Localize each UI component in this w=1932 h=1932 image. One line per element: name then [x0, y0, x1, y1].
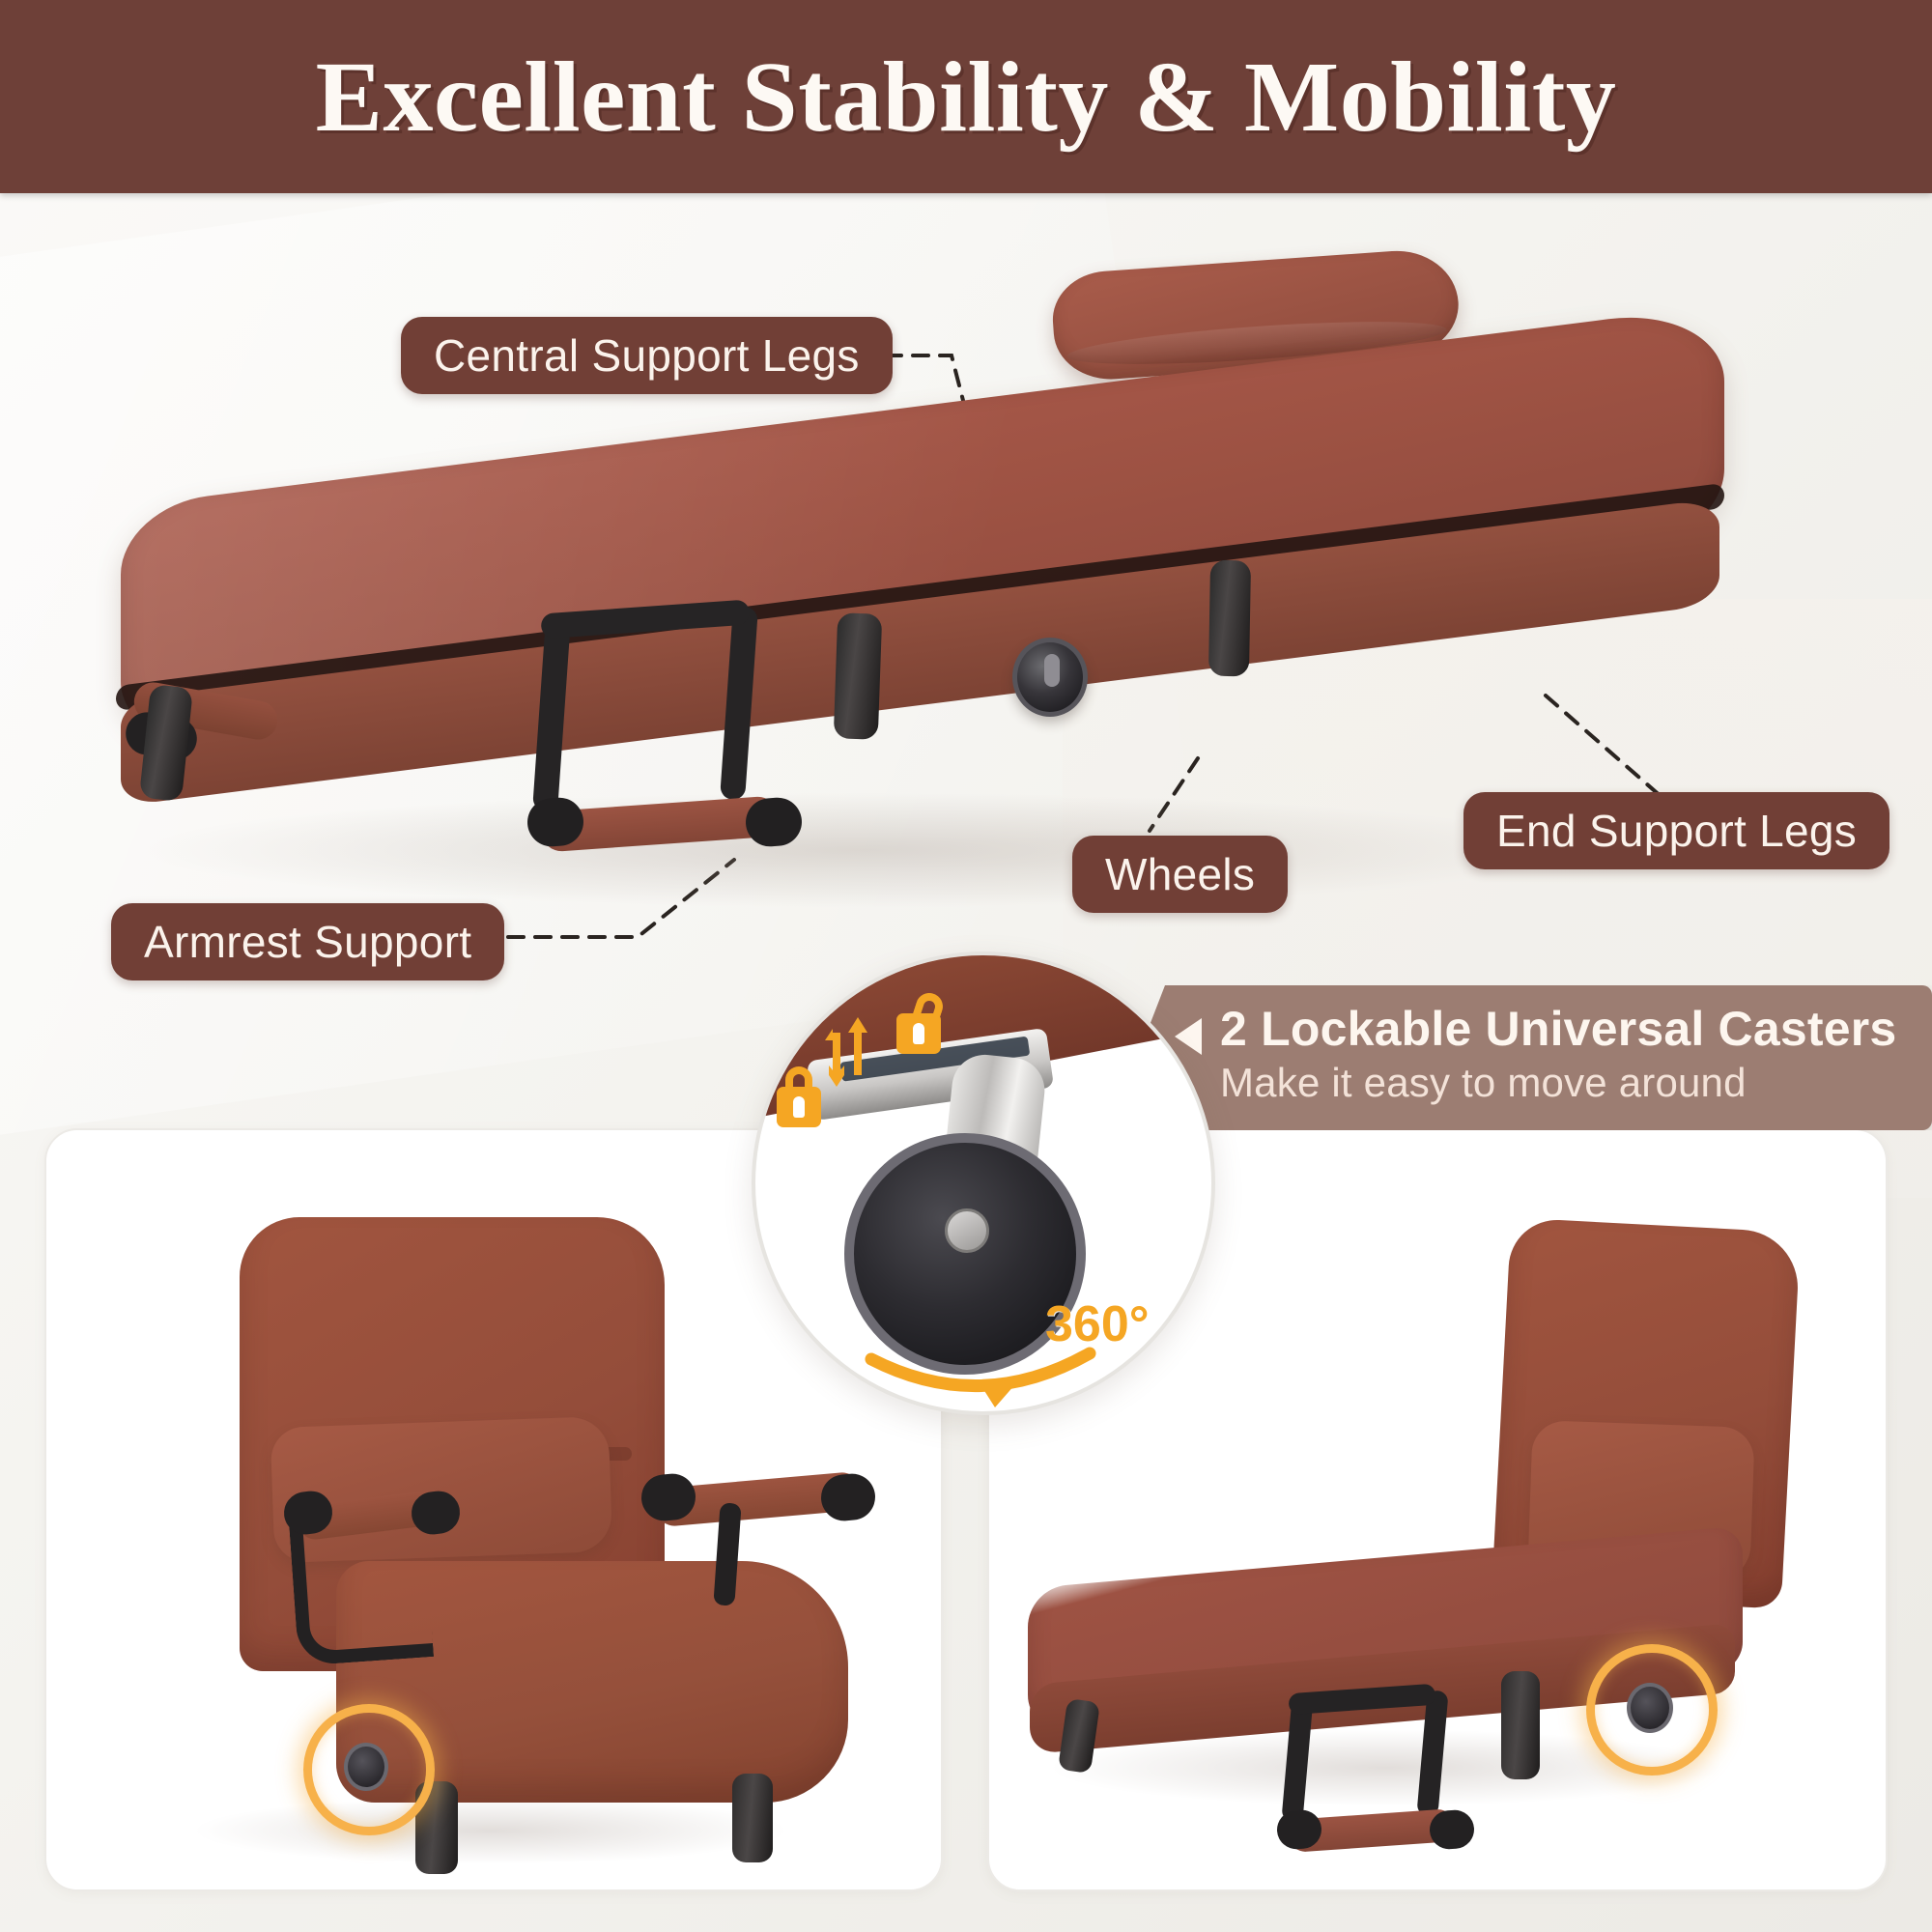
page-title: Excellent Stability & Mobility: [316, 40, 1617, 155]
lock-open-icon: [896, 1013, 941, 1054]
chaise-upright-left: [1281, 1695, 1313, 1822]
caster-banner-subtitle: Make it easy to move around: [1220, 1060, 1932, 1106]
caster-highlight-ring: [303, 1704, 435, 1835]
chaise-armrest-support-frame: [1267, 1687, 1490, 1870]
armrest-upright-right: [720, 606, 758, 800]
armrest-upright-left: [532, 617, 571, 811]
product-flat-bed: [87, 232, 1826, 850]
chaise-crossbar: [1288, 1684, 1435, 1716]
lock-keyhole-open: [913, 1023, 924, 1044]
armrest-support-frame: [502, 599, 811, 860]
lock-closed-icon: [777, 1087, 821, 1127]
caster-wheel-hero: [1012, 638, 1088, 717]
callout-armrest-support[interactable]: Armrest Support: [111, 903, 504, 980]
chaise-armrest-cap-right: [1429, 1808, 1476, 1850]
armrest-cap-right: [744, 796, 803, 848]
caster-detail-bubble: 360°: [752, 952, 1215, 1415]
header-banner: Excellent Stability & Mobility: [0, 0, 1932, 193]
callout-central-support-legs[interactable]: Central Support Legs: [401, 317, 893, 394]
lock-shackle: [785, 1066, 812, 1094]
end-support-leg-right: [1208, 560, 1251, 677]
caster-callout-banner: 2 Lockable Universal Casters Make it eas…: [1109, 985, 1932, 1130]
rotation-degree-label: 360°: [1045, 1295, 1150, 1353]
caster-banner-title: 2 Lockable Universal Casters: [1220, 1003, 1932, 1056]
central-support-leg: [834, 612, 883, 740]
armrest-crossbar: [540, 599, 750, 639]
product-armchair-upright: [153, 1198, 887, 1864]
callout-end-support-legs[interactable]: End Support Legs: [1463, 792, 1889, 869]
lock-keyhole: [793, 1096, 805, 1118]
armrest-right-cap-rear: [819, 1472, 877, 1523]
up-down-arrow-icon: [825, 1015, 869, 1093]
chaise-caster-highlight-ring: [1586, 1644, 1718, 1776]
armchair-leg-rear: [732, 1774, 773, 1862]
callout-wheels[interactable]: Wheels: [1072, 836, 1288, 913]
chaise-central-support-leg: [1501, 1671, 1540, 1779]
infographic-page: Excellent Stability & Mobility: [0, 0, 1932, 1932]
chaise-upright-right: [1416, 1690, 1448, 1816]
caster-hub-bolt: [945, 1208, 989, 1253]
